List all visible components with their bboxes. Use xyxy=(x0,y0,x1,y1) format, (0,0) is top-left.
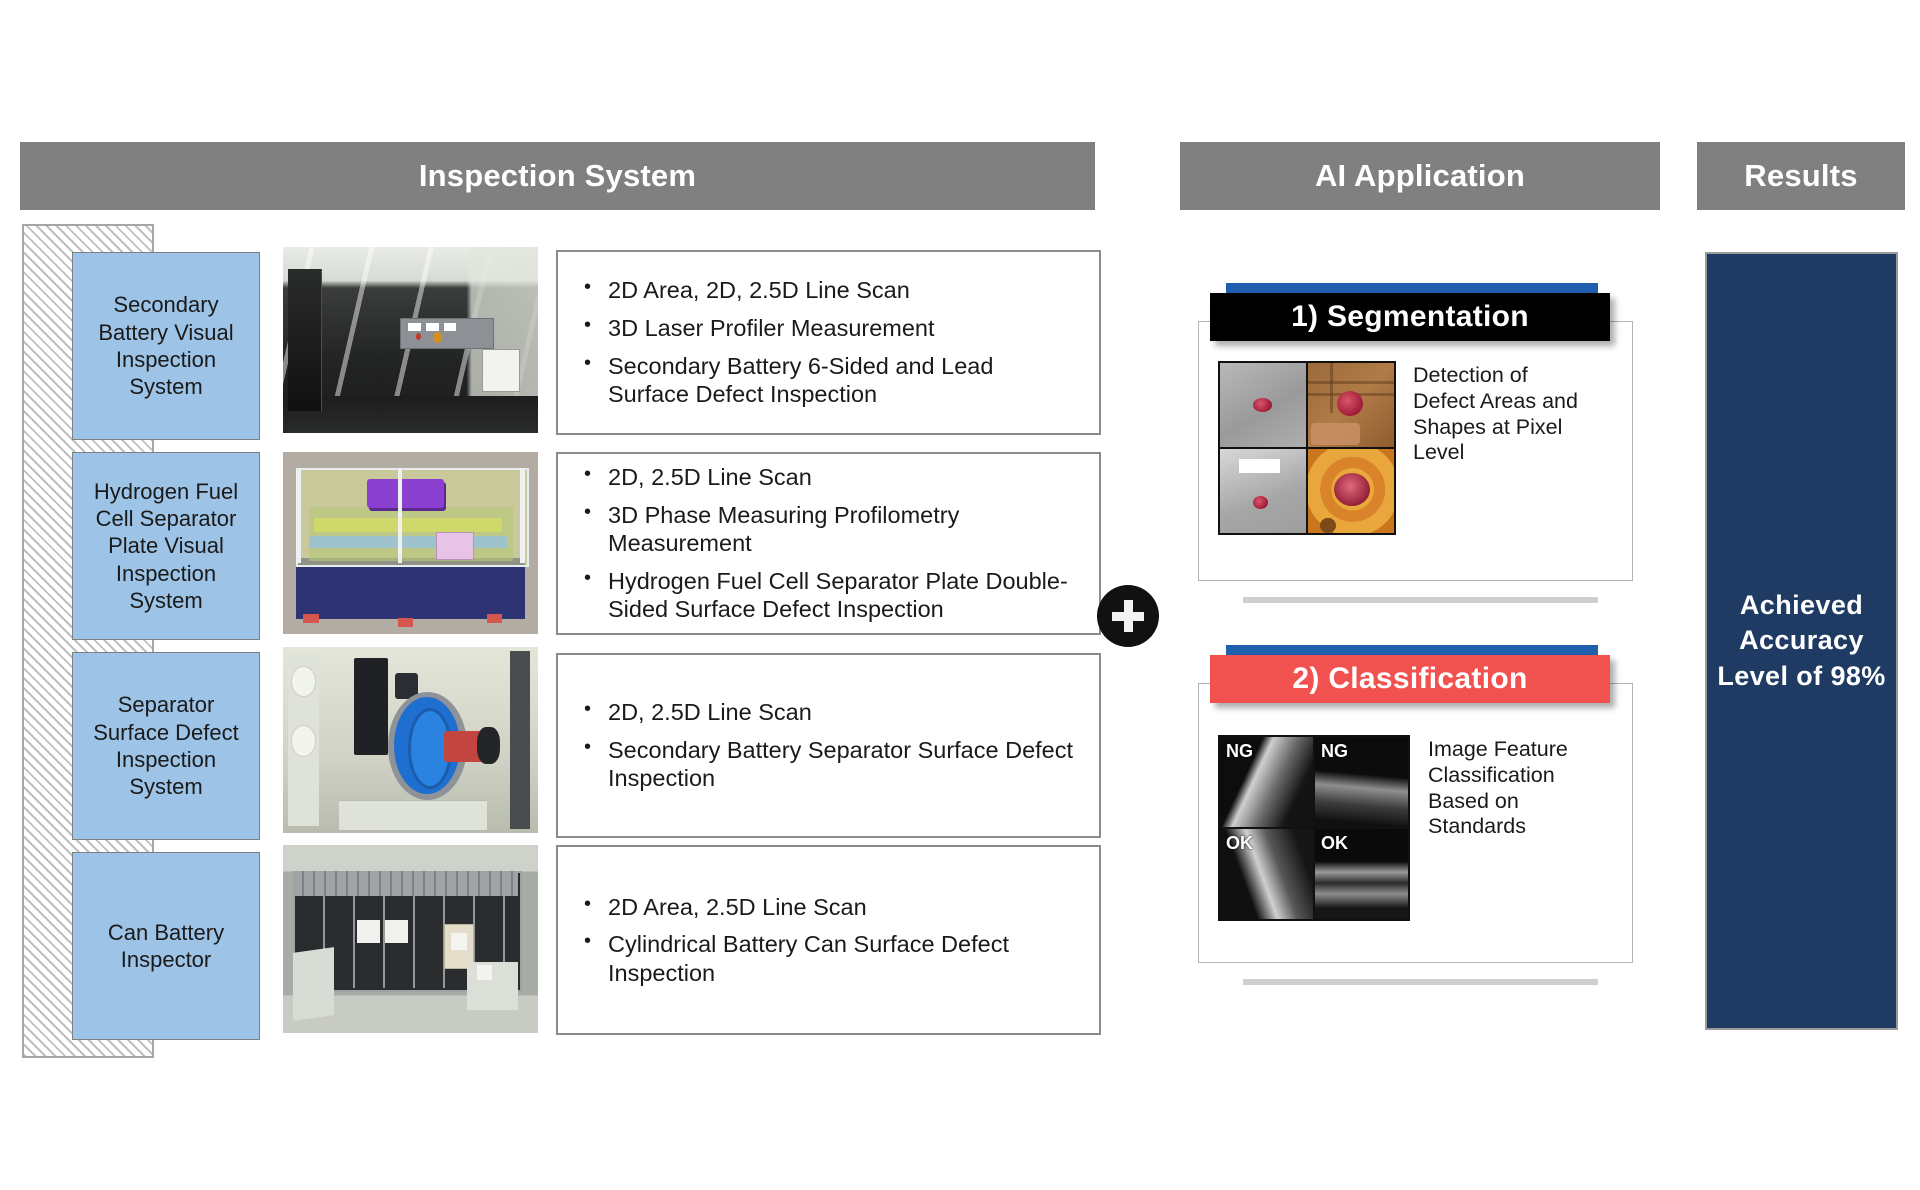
segmentation-sample-mask-1 xyxy=(1308,363,1394,447)
spec-list-1: 2D Area, 2D, 2.5D Line Scan 3D Laser Pro… xyxy=(578,276,1077,409)
system-label-box-4[interactable]: Can Battery Inspector xyxy=(72,852,260,1040)
segmentation-title: 1) Segmentation xyxy=(1210,293,1610,341)
spec-box-4: 2D Area, 2.5D Line Scan Cylindrical Batt… xyxy=(556,845,1101,1035)
photo-secondary-battery-visual-inspection-machine xyxy=(283,247,538,433)
segmentation-sample-raw-2 xyxy=(1220,449,1306,533)
spec-list-3: 2D, 2.5D Line Scan Secondary Battery Sep… xyxy=(578,698,1077,793)
column-header-inspection-system: Inspection System xyxy=(20,142,1095,210)
ai-panel-classification: 2) Classification NG NG OK OK Image Feat… xyxy=(1198,645,1633,985)
column-header-ai-application: AI Application xyxy=(1180,142,1660,210)
spec-bullet: Secondary Battery Separator Surface Defe… xyxy=(578,736,1077,793)
classification-tag: NG xyxy=(1321,741,1348,762)
spec-bullet: Secondary Battery 6-Sided and Lead Surfa… xyxy=(578,352,1077,409)
spec-bullet: 2D, 2.5D Line Scan xyxy=(578,463,1077,492)
spec-bullet: 2D Area, 2D, 2.5D Line Scan xyxy=(578,276,1077,305)
photo-hydrogen-fuel-cell-separator-plate-cad xyxy=(283,452,538,634)
slide-canvas: Inspection System AI Application Results… xyxy=(0,0,1920,1190)
classification-bottom-shadow-bar xyxy=(1243,979,1598,985)
spec-bullet: 2D, 2.5D Line Scan xyxy=(578,698,1077,727)
spec-list-4: 2D Area, 2.5D Line Scan Cylindrical Batt… xyxy=(578,893,1077,988)
classification-tag: OK xyxy=(1321,833,1348,854)
segmentation-sample-mask-2 xyxy=(1308,449,1394,533)
spec-box-2: 2D, 2.5D Line Scan 3D Phase Measuring Pr… xyxy=(556,452,1101,635)
classification-tag: OK xyxy=(1226,833,1253,854)
segmentation-accent-bar xyxy=(1226,283,1598,293)
classification-sample-ok-2: OK xyxy=(1315,829,1408,919)
classification-title: 2) Classification xyxy=(1210,655,1610,703)
spec-bullet: 3D Phase Measuring Profilometry Measurem… xyxy=(578,501,1077,558)
classification-sample-ng-2: NG xyxy=(1315,737,1408,827)
results-accuracy-box: Achieved Accuracy Level of 98% xyxy=(1705,252,1898,1030)
segmentation-bottom-shadow-bar xyxy=(1243,597,1598,603)
segmentation-sample-grid xyxy=(1218,361,1396,535)
spec-box-3: 2D, 2.5D Line Scan Secondary Battery Sep… xyxy=(556,653,1101,838)
classification-tag: NG xyxy=(1226,741,1253,762)
classification-accent-bar xyxy=(1226,645,1598,655)
segmentation-sample-raw-1 xyxy=(1220,363,1306,447)
classification-sample-ng-1: NG xyxy=(1220,737,1313,827)
spec-bullet: 2D Area, 2.5D Line Scan xyxy=(578,893,1077,922)
plus-icon xyxy=(1097,585,1159,647)
segmentation-caption: Detection of Defect Areas and Shapes at … xyxy=(1413,363,1593,466)
photo-separator-roll-winder xyxy=(283,647,538,833)
system-label-box-1[interactable]: Secondary Battery Visual Inspection Syst… xyxy=(72,252,260,440)
classification-sample-ok-1: OK xyxy=(1220,829,1313,919)
spec-bullet: Cylindrical Battery Can Surface Defect I… xyxy=(578,930,1077,987)
spec-bullet: 3D Laser Profiler Measurement xyxy=(578,314,1077,343)
spec-box-1: 2D Area, 2D, 2.5D Line Scan 3D Laser Pro… xyxy=(556,250,1101,435)
spec-bullet: Hydrogen Fuel Cell Separator Plate Doubl… xyxy=(578,567,1077,624)
ai-panel-segmentation: 1) Segmentation Detection of Defect Ar xyxy=(1198,283,1633,603)
photo-can-battery-inspector-line xyxy=(283,845,538,1033)
column-header-results: Results xyxy=(1697,142,1905,210)
classification-caption: Image Feature Classification Based on St… xyxy=(1428,737,1598,840)
spec-list-2: 2D, 2.5D Line Scan 3D Phase Measuring Pr… xyxy=(578,463,1077,624)
system-label-box-3[interactable]: Separator Surface Defect Inspection Syst… xyxy=(72,652,260,840)
classification-sample-grid: NG NG OK OK xyxy=(1218,735,1410,921)
system-label-box-2[interactable]: Hydrogen Fuel Cell Separator Plate Visua… xyxy=(72,452,260,640)
